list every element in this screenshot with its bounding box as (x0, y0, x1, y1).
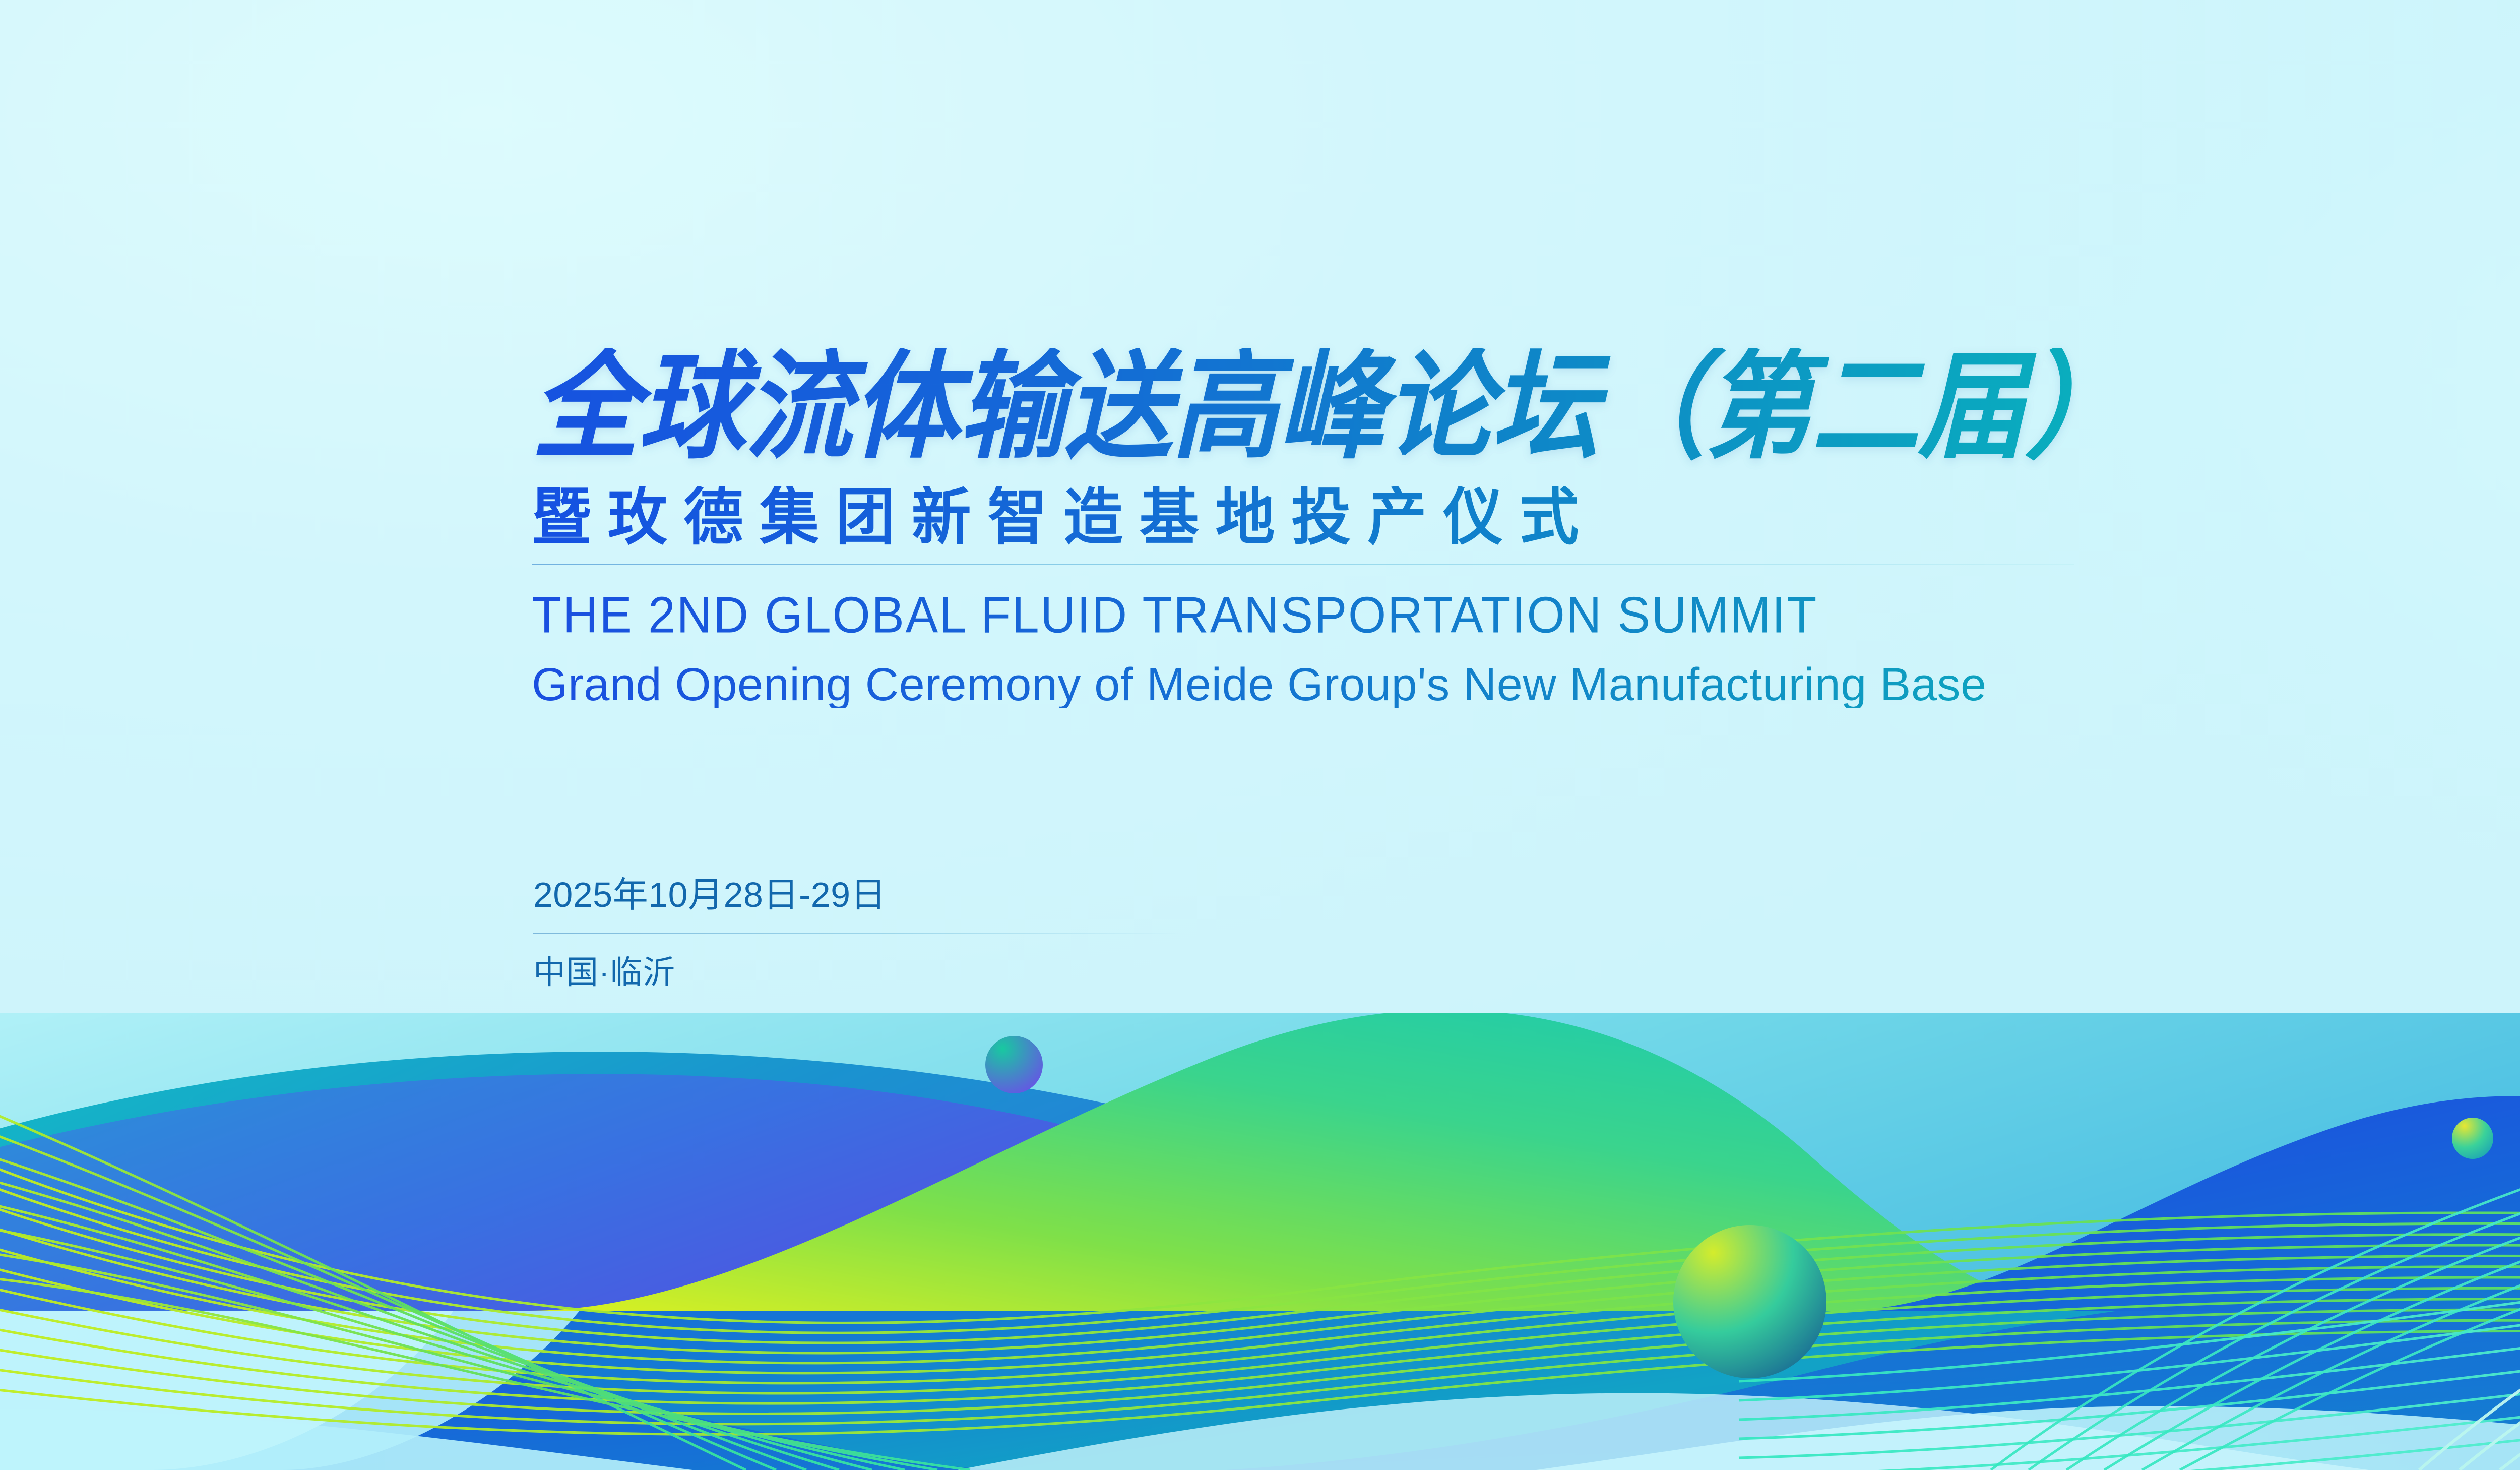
background-artwork (0, 0, 2520, 1470)
headline-block: 全球流体输送高峰论坛（第二届） 暨玫德集团新智造基地投产仪式 THE 2ND G… (532, 348, 2520, 708)
english-title-line-2: Grand Opening Ceremony of Meide Group's … (532, 661, 2520, 708)
event-location: 中国·临沂 (533, 956, 1239, 989)
meta-divider (533, 933, 1186, 934)
page-title: 全球流体输送高峰论坛（第二届） (532, 348, 2479, 467)
event-meta-block: 2025年10月28日-29日 中国·临沂 (533, 877, 1239, 989)
subtitle-divider (532, 564, 2074, 565)
event-date: 2025年10月28日-29日 (533, 877, 1239, 912)
sphere-small-violet (985, 1036, 1043, 1093)
page-subtitle: 暨玫德集团新智造基地投产仪式 (532, 486, 2520, 548)
poster-canvas: 全球流体输送高峰论坛（第二届） 暨玫德集团新智造基地投产仪式 THE 2ND G… (0, 0, 2520, 1470)
english-title-line-1: THE 2ND GLOBAL FLUID TRANSPORTATION SUMM… (532, 589, 2520, 640)
sphere-small-green (2452, 1118, 2493, 1159)
sphere-large-lime (1673, 1225, 1826, 1378)
